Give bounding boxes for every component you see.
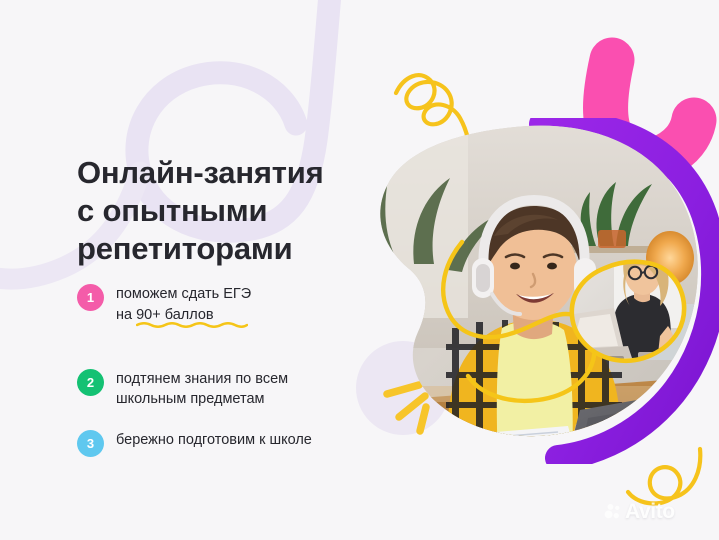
benefit-text-2: подтянем знания по всем школьным предмет… (116, 368, 288, 410)
benefits-list: 1 поможем сдать ЕГЭ на 90+ баллов 2 подт… (77, 283, 387, 457)
avito-wordmark: Avito (625, 501, 675, 522)
promo-poster: Онлайн-занятия с опытными репетиторами 1… (0, 0, 719, 540)
badge-number-2: 2 (77, 369, 104, 396)
avito-dots-logo (604, 503, 621, 520)
benefit-text-3: бережно подготовим к школе (116, 429, 312, 451)
badge-number-1: 1 (77, 284, 104, 311)
page-title: Онлайн-занятия с опытными репетиторами (77, 154, 387, 268)
wavy-underline-decoration (136, 321, 248, 328)
list-item: 3 бережно подготовим к школе (77, 429, 387, 457)
list-item: 2 подтянем знания по всем школьным предм… (77, 368, 387, 410)
photo-composition (352, 118, 719, 464)
avito-watermark: Avito (604, 501, 675, 522)
benefit-text-1: поможем сдать ЕГЭ на 90+ баллов (116, 283, 251, 349)
list-item: 1 поможем сдать ЕГЭ на 90+ баллов (77, 283, 387, 349)
badge-number-3: 3 (77, 430, 104, 457)
